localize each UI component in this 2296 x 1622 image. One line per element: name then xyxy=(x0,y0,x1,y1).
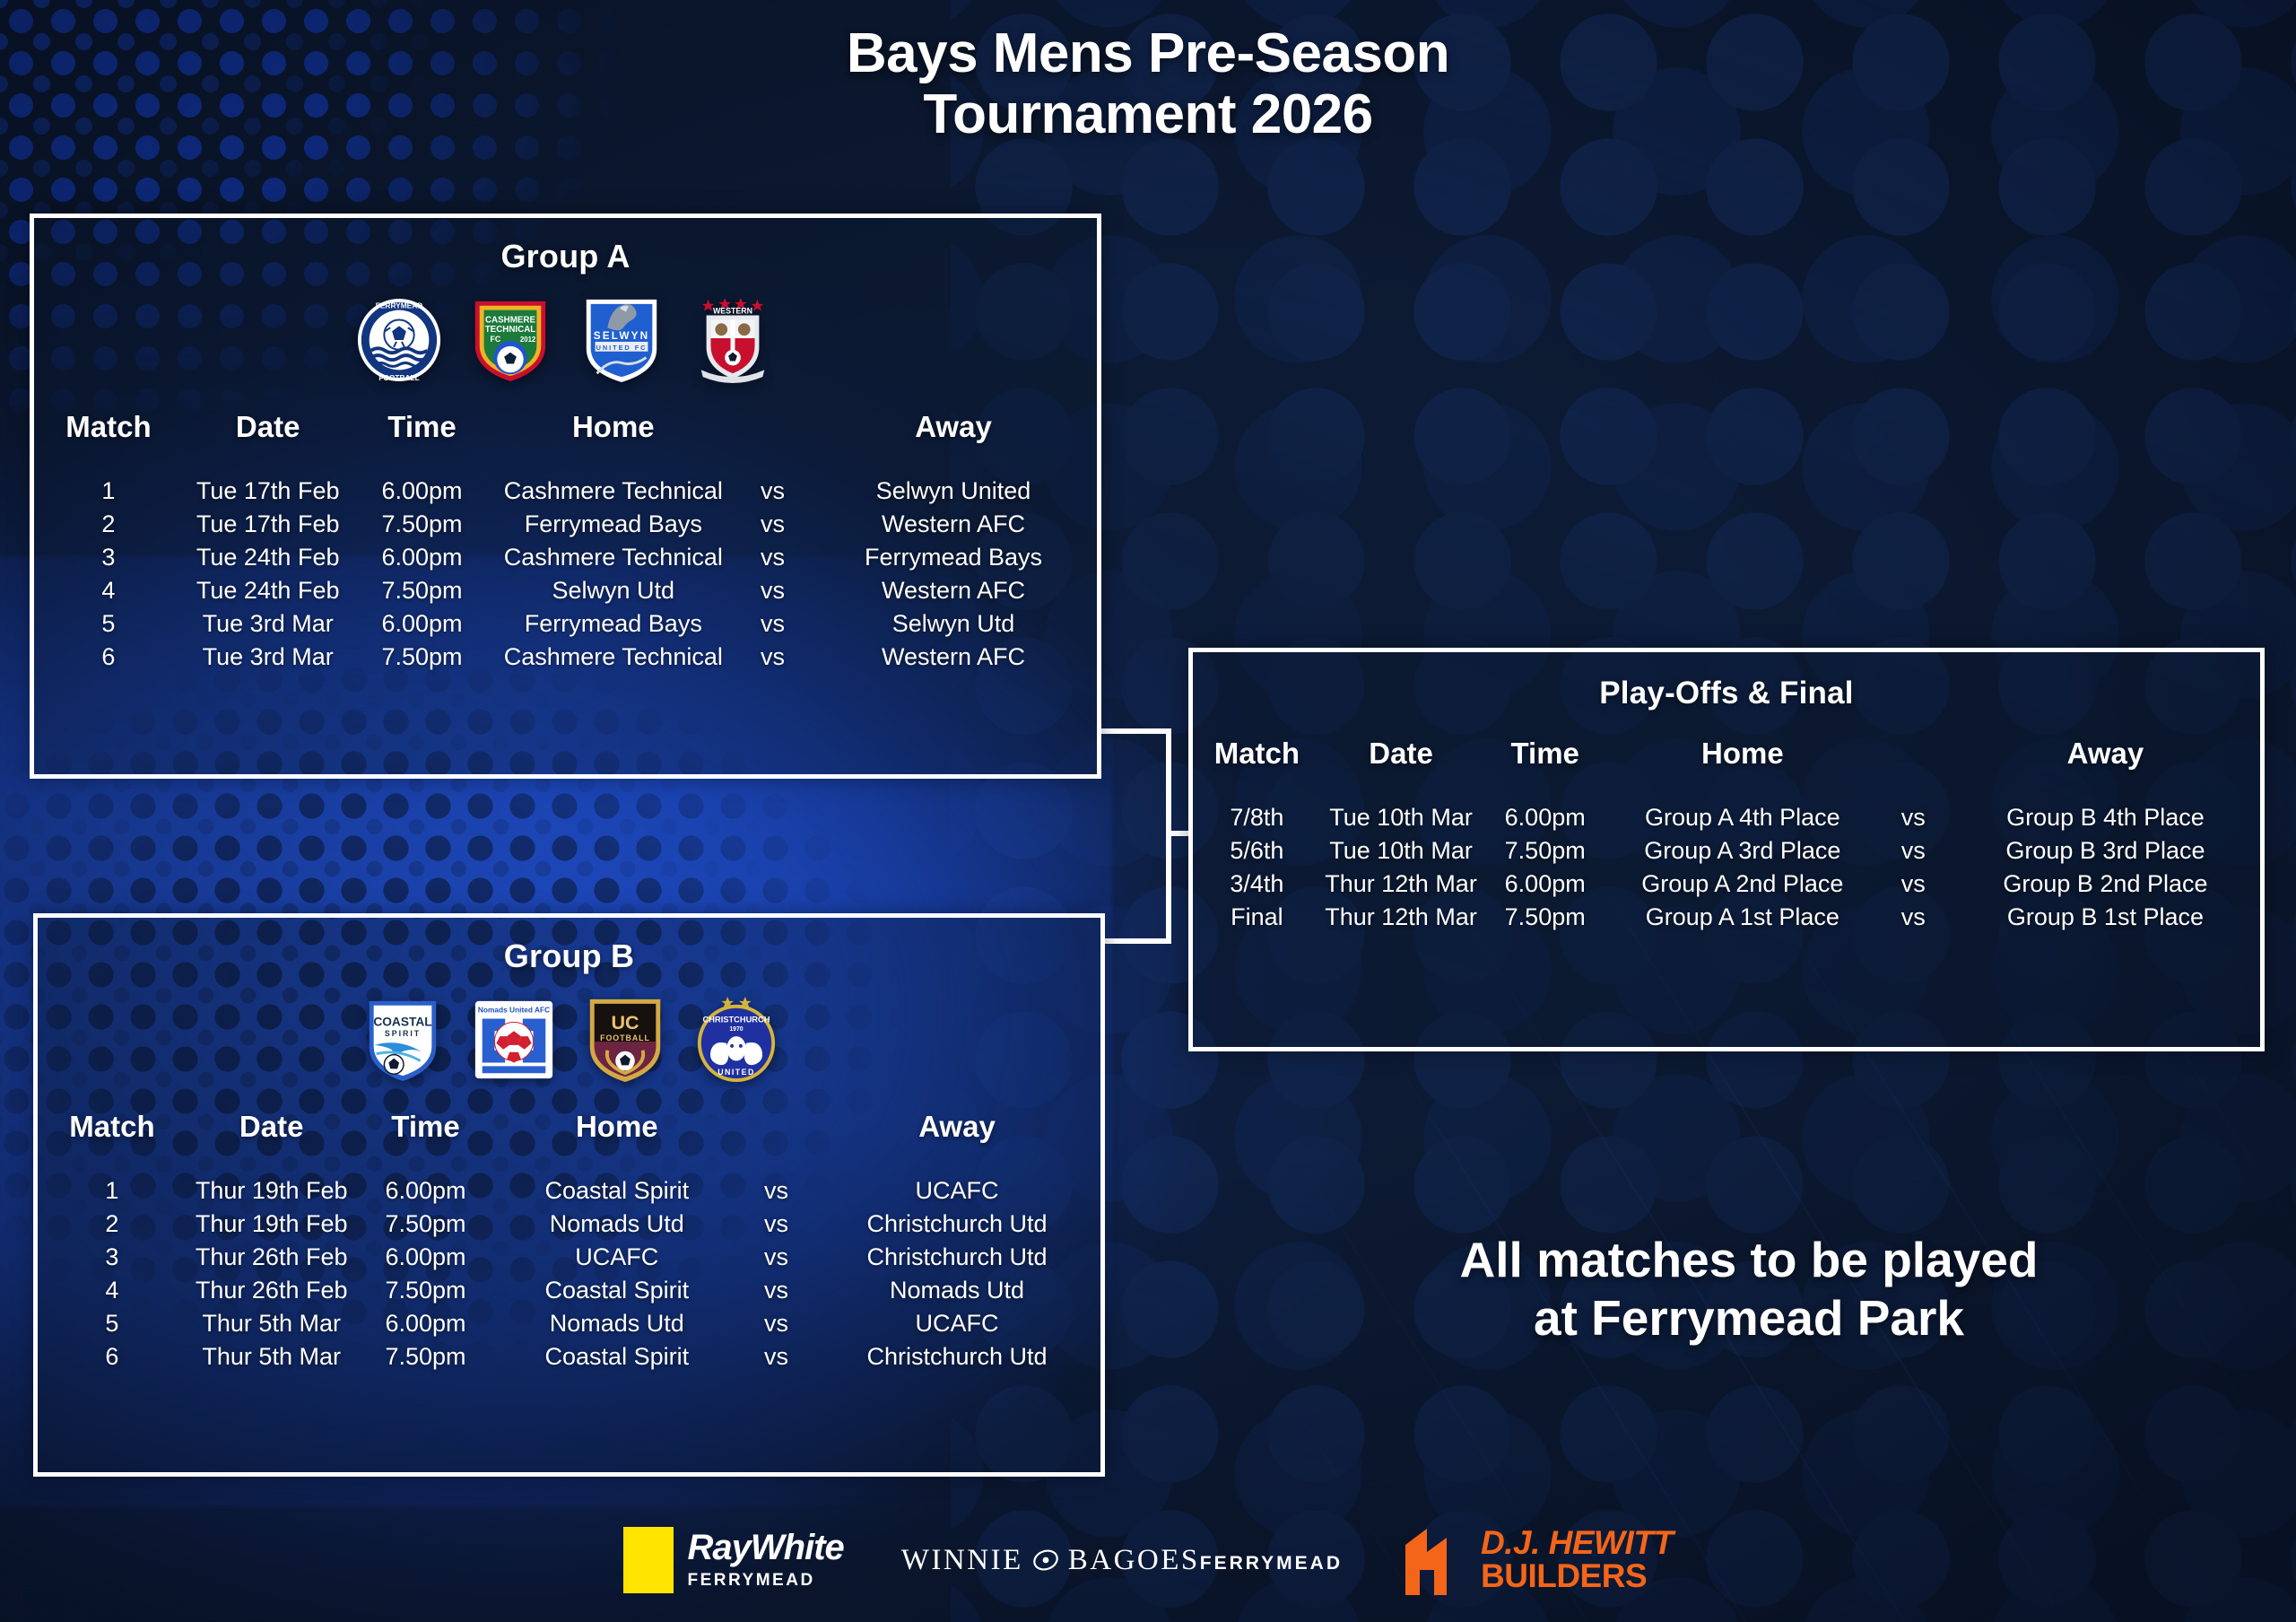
nomads-united-crest: Nomads United AFC xyxy=(470,993,558,1086)
cell-away: UCAFC xyxy=(813,1307,1100,1340)
cell-away: Group B 4th Place xyxy=(1951,801,2260,834)
column-header-match: Match xyxy=(38,1110,187,1174)
group-b-crests: COASTAL SPIRIT Nomads United AFC xyxy=(38,990,1100,1086)
cell-time: 6.00pm xyxy=(352,475,491,508)
svg-text:2012: 2012 xyxy=(519,336,535,344)
svg-text:CASHMERE: CASHMERE xyxy=(484,315,535,325)
cell-away: Group B 2nd Place xyxy=(1951,868,2260,901)
cell-home: Ferrymead Bays xyxy=(491,508,736,541)
dj-hewitt-wordmark: D.J. HEWITT BUILDERS xyxy=(1481,1526,1673,1594)
cell-home: Cashmere Technical xyxy=(491,541,736,574)
column-header-time: Time xyxy=(1481,737,1609,801)
cell-away: Christchurch Utd xyxy=(813,1340,1100,1373)
cell-home: Group A 3rd Place xyxy=(1609,834,1876,868)
winnie-bagoes-name-b: BAGOES xyxy=(1068,1544,1200,1577)
cell-time: 7.50pm xyxy=(356,1208,494,1241)
cell-time: 6.00pm xyxy=(356,1307,494,1340)
cashmere-technical-crest: CASHMERE TECHNICAL FC 2012 xyxy=(466,293,554,387)
page-title: Bays Mens Pre-Season Tournament 2026 xyxy=(0,23,2296,145)
cell-match: 3 xyxy=(34,541,183,574)
table-row: 4Thur 26th Feb7.50pmCoastal SpiritvsNoma… xyxy=(38,1274,1100,1307)
group-a-heading: Group A xyxy=(34,238,1097,275)
column-header-match: Match xyxy=(34,410,183,475)
cell-home: Coastal Spirit xyxy=(495,1340,740,1373)
ray-white-wordmark: RayWhite FERRYMEAD xyxy=(688,1530,844,1591)
winnie-bagoes-name-a: WINNIE xyxy=(901,1544,1023,1577)
sponsor-winnie-bagoes: WINNIE BAGOES FERRYMEAD xyxy=(901,1544,1343,1577)
cell-date: Tue 10th Mar xyxy=(1321,801,1482,834)
cell-home: Selwyn Utd xyxy=(491,574,736,607)
cell-time: 7.50pm xyxy=(352,574,491,607)
cell-away: Selwyn United xyxy=(810,475,1097,508)
table-header-row: Match Date Time Home Away xyxy=(38,1110,1100,1174)
cell-match: 2 xyxy=(38,1208,187,1241)
table-row: 5Tue 3rd Mar6.00pmFerrymead BaysvsSelwyn… xyxy=(34,607,1097,641)
group-a-panel: Group A FERRYMEAD FOOTBALL xyxy=(30,214,1101,779)
cell-home: Group A 1st Place xyxy=(1609,901,1876,934)
coastal-spirit-crest: COASTAL SPIRIT xyxy=(359,993,447,1086)
column-header-home: Home xyxy=(491,410,736,475)
cell-home: Cashmere Technical xyxy=(491,475,736,508)
cell-home: Group A 2nd Place xyxy=(1609,868,1876,901)
svg-text:UNITED: UNITED xyxy=(717,1068,755,1077)
svg-text:UNITED FC: UNITED FC xyxy=(596,344,647,352)
cell-match: 1 xyxy=(38,1174,187,1208)
ucafc-crest: UC FOOTBALL xyxy=(581,993,669,1086)
page-title-line-2: Tournament 2026 xyxy=(0,84,2296,145)
column-header-spacer xyxy=(735,410,810,475)
column-header-spacer xyxy=(1876,737,1951,801)
winnie-bagoes-location: FERRYMEAD xyxy=(1200,1553,1343,1574)
column-header-away: Away xyxy=(1951,737,2260,801)
svg-text:FERRYMEAD: FERRYMEAD xyxy=(375,301,422,310)
svg-text:TECHNICAL: TECHNICAL xyxy=(484,325,535,335)
svg-text:FOOTBALL: FOOTBALL xyxy=(378,373,419,382)
cell-match: 4 xyxy=(34,574,183,607)
svg-text:UC: UC xyxy=(611,1011,639,1033)
cell-home: UCAFC xyxy=(495,1241,740,1274)
cell-time: 6.00pm xyxy=(352,541,491,574)
column-header-away: Away xyxy=(813,1110,1100,1174)
group-a-crests: FERRYMEAD FOOTBALL CASHMERE TECHNICAL FC… xyxy=(34,290,1097,387)
table-row: 5Thur 5th Mar6.00pmNomads UtdvsUCAFC xyxy=(38,1307,1100,1340)
column-header-date: Date xyxy=(183,410,353,475)
cell-date: Thur 5th Mar xyxy=(187,1340,357,1373)
bracket-connector-b-horizontal xyxy=(1101,938,1171,944)
winnie-bagoes-swirl-icon xyxy=(1032,1548,1059,1572)
cell-match: 6 xyxy=(34,641,183,674)
playoffs-rows: 7/8thTue 10th Mar6.00pmGroup A 4th Place… xyxy=(1193,801,2260,934)
selwyn-united-crest: SELWYN UNITED FC xyxy=(578,293,665,387)
cell-vs: vs xyxy=(739,1174,813,1208)
cell-away: Christchurch Utd xyxy=(813,1208,1100,1241)
cell-home: Ferrymead Bays xyxy=(491,607,736,641)
svg-text:COASTAL: COASTAL xyxy=(373,1015,431,1028)
table-row: 1Thur 19th Feb6.00pmCoastal SpiritvsUCAF… xyxy=(38,1174,1100,1208)
page-title-line-1: Bays Mens Pre-Season xyxy=(0,23,2296,84)
cell-away: Western AFC xyxy=(810,508,1097,541)
table-row: 1Tue 17th Feb6.00pmCashmere TechnicalvsS… xyxy=(34,475,1097,508)
svg-text:FC: FC xyxy=(490,335,500,344)
column-header-match: Match xyxy=(1193,737,1321,801)
cell-away: Group B 1st Place xyxy=(1951,901,2260,934)
svg-text:SELWYN: SELWYN xyxy=(593,330,649,342)
cell-away: Nomads Utd xyxy=(813,1274,1100,1307)
cell-vs: vs xyxy=(1876,834,1951,868)
cell-date: Tue 17th Feb xyxy=(183,508,353,541)
cell-date: Thur 5th Mar xyxy=(187,1307,357,1340)
cell-away: Christchurch Utd xyxy=(813,1241,1100,1274)
cell-date: Thur 19th Feb xyxy=(187,1174,357,1208)
table-row: 6Thur 5th Mar7.50pmCoastal SpiritvsChris… xyxy=(38,1340,1100,1373)
svg-text:1970: 1970 xyxy=(729,1026,743,1033)
table-row: 4Tue 24th Feb7.50pmSelwyn UtdvsWestern A… xyxy=(34,574,1097,607)
table-header-row: Match Date Time Home Away xyxy=(34,410,1097,475)
column-header-time: Time xyxy=(356,1110,494,1174)
group-b-schedule-table: Match Date Time Home Away 1Thur 19th Feb… xyxy=(38,1110,1100,1373)
table-row: 3Tue 24th Feb6.00pmCashmere TechnicalvsF… xyxy=(34,541,1097,574)
column-header-time: Time xyxy=(352,410,491,475)
cell-date: Tue 10th Mar xyxy=(1321,834,1482,868)
cell-vs: vs xyxy=(735,607,810,641)
cell-vs: vs xyxy=(735,574,810,607)
sponsor-bar: RayWhite FERRYMEAD WINNIE BAGOES FERRYME… xyxy=(0,1525,2296,1595)
western-afc-crest: WESTERN xyxy=(689,293,777,387)
playoffs-heading: Play-Offs & Final xyxy=(1193,676,2260,711)
cell-vs: vs xyxy=(735,541,810,574)
cell-match: 6 xyxy=(38,1340,187,1373)
table-row: 6Tue 3rd Mar7.50pmCashmere TechnicalvsWe… xyxy=(34,641,1097,674)
cell-date: Thur 26th Feb xyxy=(187,1274,357,1307)
table-row: 2Tue 17th Feb7.50pmFerrymead BaysvsWeste… xyxy=(34,508,1097,541)
cell-time: 6.00pm xyxy=(1481,868,1609,901)
svg-text:CHRISTCHURCH: CHRISTCHURCH xyxy=(702,1015,770,1024)
cell-vs: vs xyxy=(739,1274,813,1307)
cell-vs: vs xyxy=(735,508,810,541)
cell-time: 6.00pm xyxy=(356,1241,494,1274)
cell-match: 3/4th xyxy=(1193,868,1321,901)
cell-time: 7.50pm xyxy=(356,1340,494,1373)
cell-home: Coastal Spirit xyxy=(495,1274,740,1307)
cell-away: Selwyn Utd xyxy=(810,607,1097,641)
table-header-row: Match Date Time Home Away xyxy=(1193,737,2260,801)
cell-vs: vs xyxy=(735,641,810,674)
table-row: FinalThur 12th Mar7.50pmGroup A 1st Plac… xyxy=(1193,901,2260,934)
bracket-connector-vertical xyxy=(1166,728,1171,944)
cell-away: Group B 3rd Place xyxy=(1951,834,2260,868)
cell-date: Thur 26th Feb xyxy=(187,1241,357,1274)
cell-match: 1 xyxy=(34,475,183,508)
cell-time: 7.50pm xyxy=(1481,901,1609,934)
ray-white-location: FERRYMEAD xyxy=(688,1571,844,1591)
group-b-heading: Group B xyxy=(38,937,1100,975)
cell-date: Tue 3rd Mar xyxy=(183,641,353,674)
cell-date: Thur 12th Mar xyxy=(1321,868,1482,901)
cell-home: Group A 4th Place xyxy=(1609,801,1876,834)
cell-time: 7.50pm xyxy=(352,641,491,674)
cell-away: Western AFC xyxy=(810,574,1097,607)
cell-home: Coastal Spirit xyxy=(495,1174,740,1208)
group-a-rows: 1Tue 17th Feb6.00pmCashmere TechnicalvsS… xyxy=(34,475,1097,674)
cell-match: 5 xyxy=(34,607,183,641)
cell-away: Ferrymead Bays xyxy=(810,541,1097,574)
cell-match: Final xyxy=(1193,901,1321,934)
cell-date: Thur 12th Mar xyxy=(1321,901,1482,934)
ray-white-square-icon xyxy=(623,1527,674,1593)
cell-time: 7.50pm xyxy=(1481,834,1609,868)
column-header-spacer xyxy=(739,1110,813,1174)
venue-note-line-2: at Ferrymead Park xyxy=(1274,1289,2224,1347)
venue-note-line-1: All matches to be played xyxy=(1274,1231,2224,1289)
cell-date: Tue 24th Feb xyxy=(183,541,353,574)
playoffs-schedule-table: Match Date Time Home Away 7/8thTue 10th … xyxy=(1193,737,2260,934)
dj-hewitt-line-2: BUILDERS xyxy=(1481,1559,1673,1594)
ferrymead-bays-crest: FERRYMEAD FOOTBALL xyxy=(355,293,443,387)
christchurch-united-crest: CHRISTCHURCH 1970 UNITED xyxy=(692,993,780,1086)
cell-home: Nomads Utd xyxy=(495,1208,740,1241)
cell-away: UCAFC xyxy=(813,1174,1100,1208)
cell-date: Thur 19th Feb xyxy=(187,1208,357,1241)
table-row: 2Thur 19th Feb7.50pmNomads UtdvsChristch… xyxy=(38,1208,1100,1241)
venue-note: All matches to be played at Ferrymead Pa… xyxy=(1274,1231,2224,1347)
cell-home: Cashmere Technical xyxy=(491,641,736,674)
column-header-home: Home xyxy=(495,1110,740,1174)
cell-time: 6.00pm xyxy=(352,607,491,641)
dj-hewitt-house-icon xyxy=(1400,1525,1468,1595)
cell-time: 7.50pm xyxy=(356,1274,494,1307)
cell-vs: vs xyxy=(739,1340,813,1373)
group-a-schedule-table: Match Date Time Home Away 1Tue 17th Feb6… xyxy=(34,410,1097,674)
cell-vs: vs xyxy=(739,1208,813,1241)
column-header-date: Date xyxy=(187,1110,357,1174)
sponsor-dj-hewitt: D.J. HEWITT BUILDERS xyxy=(1400,1525,1673,1595)
table-row: 7/8thTue 10th Mar6.00pmGroup A 4th Place… xyxy=(1193,801,2260,834)
playoffs-panel: Play-Offs & Final Match Date Time Home A… xyxy=(1188,648,2265,1051)
winnie-bagoes-wordmark: WINNIE BAGOES xyxy=(901,1544,1200,1577)
cell-vs: vs xyxy=(1876,901,1951,934)
cell-date: Tue 24th Feb xyxy=(183,574,353,607)
cell-time: 7.50pm xyxy=(352,508,491,541)
svg-text:SPIRIT: SPIRIT xyxy=(384,1029,420,1038)
cell-home: Nomads Utd xyxy=(495,1307,740,1340)
cell-vs: vs xyxy=(739,1307,813,1340)
svg-text:FOOTBALL: FOOTBALL xyxy=(600,1033,650,1042)
cell-match: 5 xyxy=(38,1307,187,1340)
svg-text:Nomads United AFC: Nomads United AFC xyxy=(477,1006,549,1015)
ray-white-name: RayWhite xyxy=(688,1530,844,1565)
group-b-panel: Group B COASTAL SPIRIT No xyxy=(33,913,1105,1477)
cell-date: Tue 3rd Mar xyxy=(183,607,353,641)
column-header-date: Date xyxy=(1321,737,1482,801)
cell-away: Western AFC xyxy=(810,641,1097,674)
column-header-away: Away xyxy=(810,410,1097,475)
cell-time: 6.00pm xyxy=(1481,801,1609,834)
table-row: 3/4thThur 12th Mar6.00pmGroup A 2nd Plac… xyxy=(1193,868,2260,901)
column-header-home: Home xyxy=(1609,737,1876,801)
cell-match: 2 xyxy=(34,508,183,541)
dj-hewitt-line-1: D.J. HEWITT xyxy=(1481,1526,1673,1559)
cell-vs: vs xyxy=(735,475,810,508)
cell-time: 6.00pm xyxy=(356,1174,494,1208)
svg-text:WESTERN: WESTERN xyxy=(712,307,752,316)
cell-vs: vs xyxy=(1876,868,1951,901)
table-row: 5/6thTue 10th Mar7.50pmGroup A 3rd Place… xyxy=(1193,834,2260,868)
cell-vs: vs xyxy=(1876,801,1951,834)
cell-match: 7/8th xyxy=(1193,801,1321,834)
group-b-rows: 1Thur 19th Feb6.00pmCoastal SpiritvsUCAF… xyxy=(38,1174,1100,1373)
cell-vs: vs xyxy=(739,1241,813,1274)
bracket-connector-a-horizontal xyxy=(1101,728,1171,734)
table-row: 3Thur 26th Feb6.00pmUCAFCvsChristchurch … xyxy=(38,1241,1100,1274)
sponsor-ray-white: RayWhite FERRYMEAD xyxy=(623,1527,844,1593)
cell-match: 3 xyxy=(38,1241,187,1274)
cell-date: Tue 17th Feb xyxy=(183,475,353,508)
cell-match: 4 xyxy=(38,1274,187,1307)
cell-match: 5/6th xyxy=(1193,834,1321,868)
